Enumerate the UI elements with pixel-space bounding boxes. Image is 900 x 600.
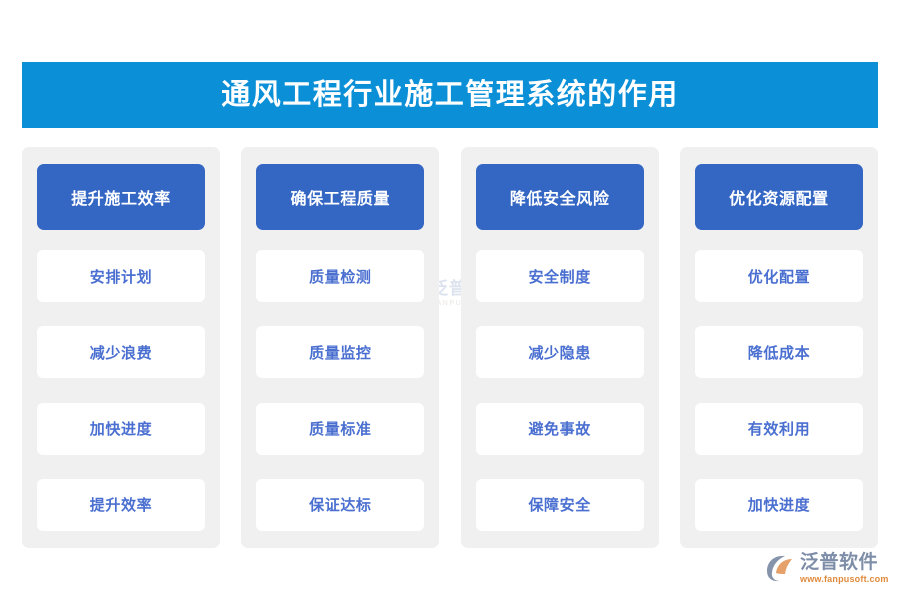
column-2-item-4-label: 保证达标	[309, 494, 371, 515]
column-2-item-3-label: 质量标准	[309, 418, 371, 439]
fanpu-swoosh-icon	[764, 553, 796, 585]
column-2-header-card[interactable]: 确保工程质量	[256, 164, 424, 230]
column-2-item-3[interactable]: 质量标准	[256, 403, 424, 455]
brand-website: www.fanpusoft.com	[800, 574, 889, 585]
column-2: 确保工程质量 质量检测 质量监控 质量标准 保证达标	[241, 147, 439, 548]
column-3-item-1-label: 安全制度	[528, 266, 590, 287]
brand-logo: 泛普软件 www.fanpusoft.com	[764, 548, 888, 590]
columns-container: 提升施工效率 安排计划 减少浪费 加快进度 提升效率 确保工程质量	[22, 147, 878, 548]
column-3-items: 安全制度 减少隐患 避免事故 保障安全	[476, 250, 644, 531]
column-4-item-1-label: 优化配置	[748, 266, 810, 287]
column-1-item-4[interactable]: 提升效率	[37, 479, 205, 531]
column-4-item-2[interactable]: 降低成本	[695, 326, 863, 378]
column-4-header-label: 优化资源配置	[729, 185, 829, 209]
brand-name: 泛普软件	[800, 553, 889, 573]
brand-logo-text: 泛普软件 www.fanpusoft.com	[800, 553, 889, 585]
column-2-item-2[interactable]: 质量监控	[256, 326, 424, 378]
column-3-item-4-label: 保障安全	[528, 494, 590, 515]
column-3-item-3[interactable]: 避免事故	[476, 403, 644, 455]
column-1-item-1[interactable]: 安排计划	[37, 250, 205, 302]
column-4-item-3[interactable]: 有效利用	[695, 403, 863, 455]
column-3-item-2-label: 减少隐患	[528, 342, 590, 363]
column-1-items: 安排计划 减少浪费 加快进度 提升效率	[37, 250, 205, 531]
column-4-item-1[interactable]: 优化配置	[695, 250, 863, 302]
column-3-item-4[interactable]: 保障安全	[476, 479, 644, 531]
column-1-item-2-label: 减少浪费	[90, 342, 152, 363]
column-1-header-label: 提升施工效率	[71, 185, 171, 209]
page-title: 通风工程行业施工管理系统的作用	[221, 81, 679, 110]
column-4-header-card[interactable]: 优化资源配置	[695, 164, 863, 230]
column-2-item-2-label: 质量监控	[309, 342, 371, 363]
column-2-item-1-label: 质量检测	[309, 266, 371, 287]
column-3: 降低安全风险 安全制度 减少隐患 避免事故 保障安全	[461, 147, 659, 548]
column-2-item-4[interactable]: 保证达标	[256, 479, 424, 531]
column-3-item-2[interactable]: 减少隐患	[476, 326, 644, 378]
column-4-item-4-label: 加快进度	[748, 494, 810, 515]
column-2-header-label: 确保工程质量	[291, 185, 391, 209]
column-3-item-3-label: 避免事故	[528, 418, 590, 439]
column-1-item-1-label: 安排计划	[90, 266, 152, 287]
column-3-item-1[interactable]: 安全制度	[476, 250, 644, 302]
column-1-item-3-label: 加快进度	[90, 418, 152, 439]
infographic-page: 通风工程行业施工管理系统的作用 泛普软件 FANPU SOFTWARE 提升施工…	[0, 0, 900, 600]
column-3-header-card[interactable]: 降低安全风险	[476, 164, 644, 230]
column-4-item-4[interactable]: 加快进度	[695, 479, 863, 531]
column-2-item-1[interactable]: 质量检测	[256, 250, 424, 302]
column-4-item-3-label: 有效利用	[748, 418, 810, 439]
column-1-header-card[interactable]: 提升施工效率	[37, 164, 205, 230]
column-1: 提升施工效率 安排计划 减少浪费 加快进度 提升效率	[22, 147, 220, 548]
column-1-item-3[interactable]: 加快进度	[37, 403, 205, 455]
column-4-items: 优化配置 降低成本 有效利用 加快进度	[695, 250, 863, 531]
column-1-item-2[interactable]: 减少浪费	[37, 326, 205, 378]
page-title-banner: 通风工程行业施工管理系统的作用	[22, 62, 878, 128]
column-3-header-label: 降低安全风险	[510, 185, 610, 209]
column-2-items: 质量检测 质量监控 质量标准 保证达标	[256, 250, 424, 531]
column-4-item-2-label: 降低成本	[748, 342, 810, 363]
column-1-item-4-label: 提升效率	[90, 494, 152, 515]
column-4: 优化资源配置 优化配置 降低成本 有效利用 加快进度	[680, 147, 878, 548]
